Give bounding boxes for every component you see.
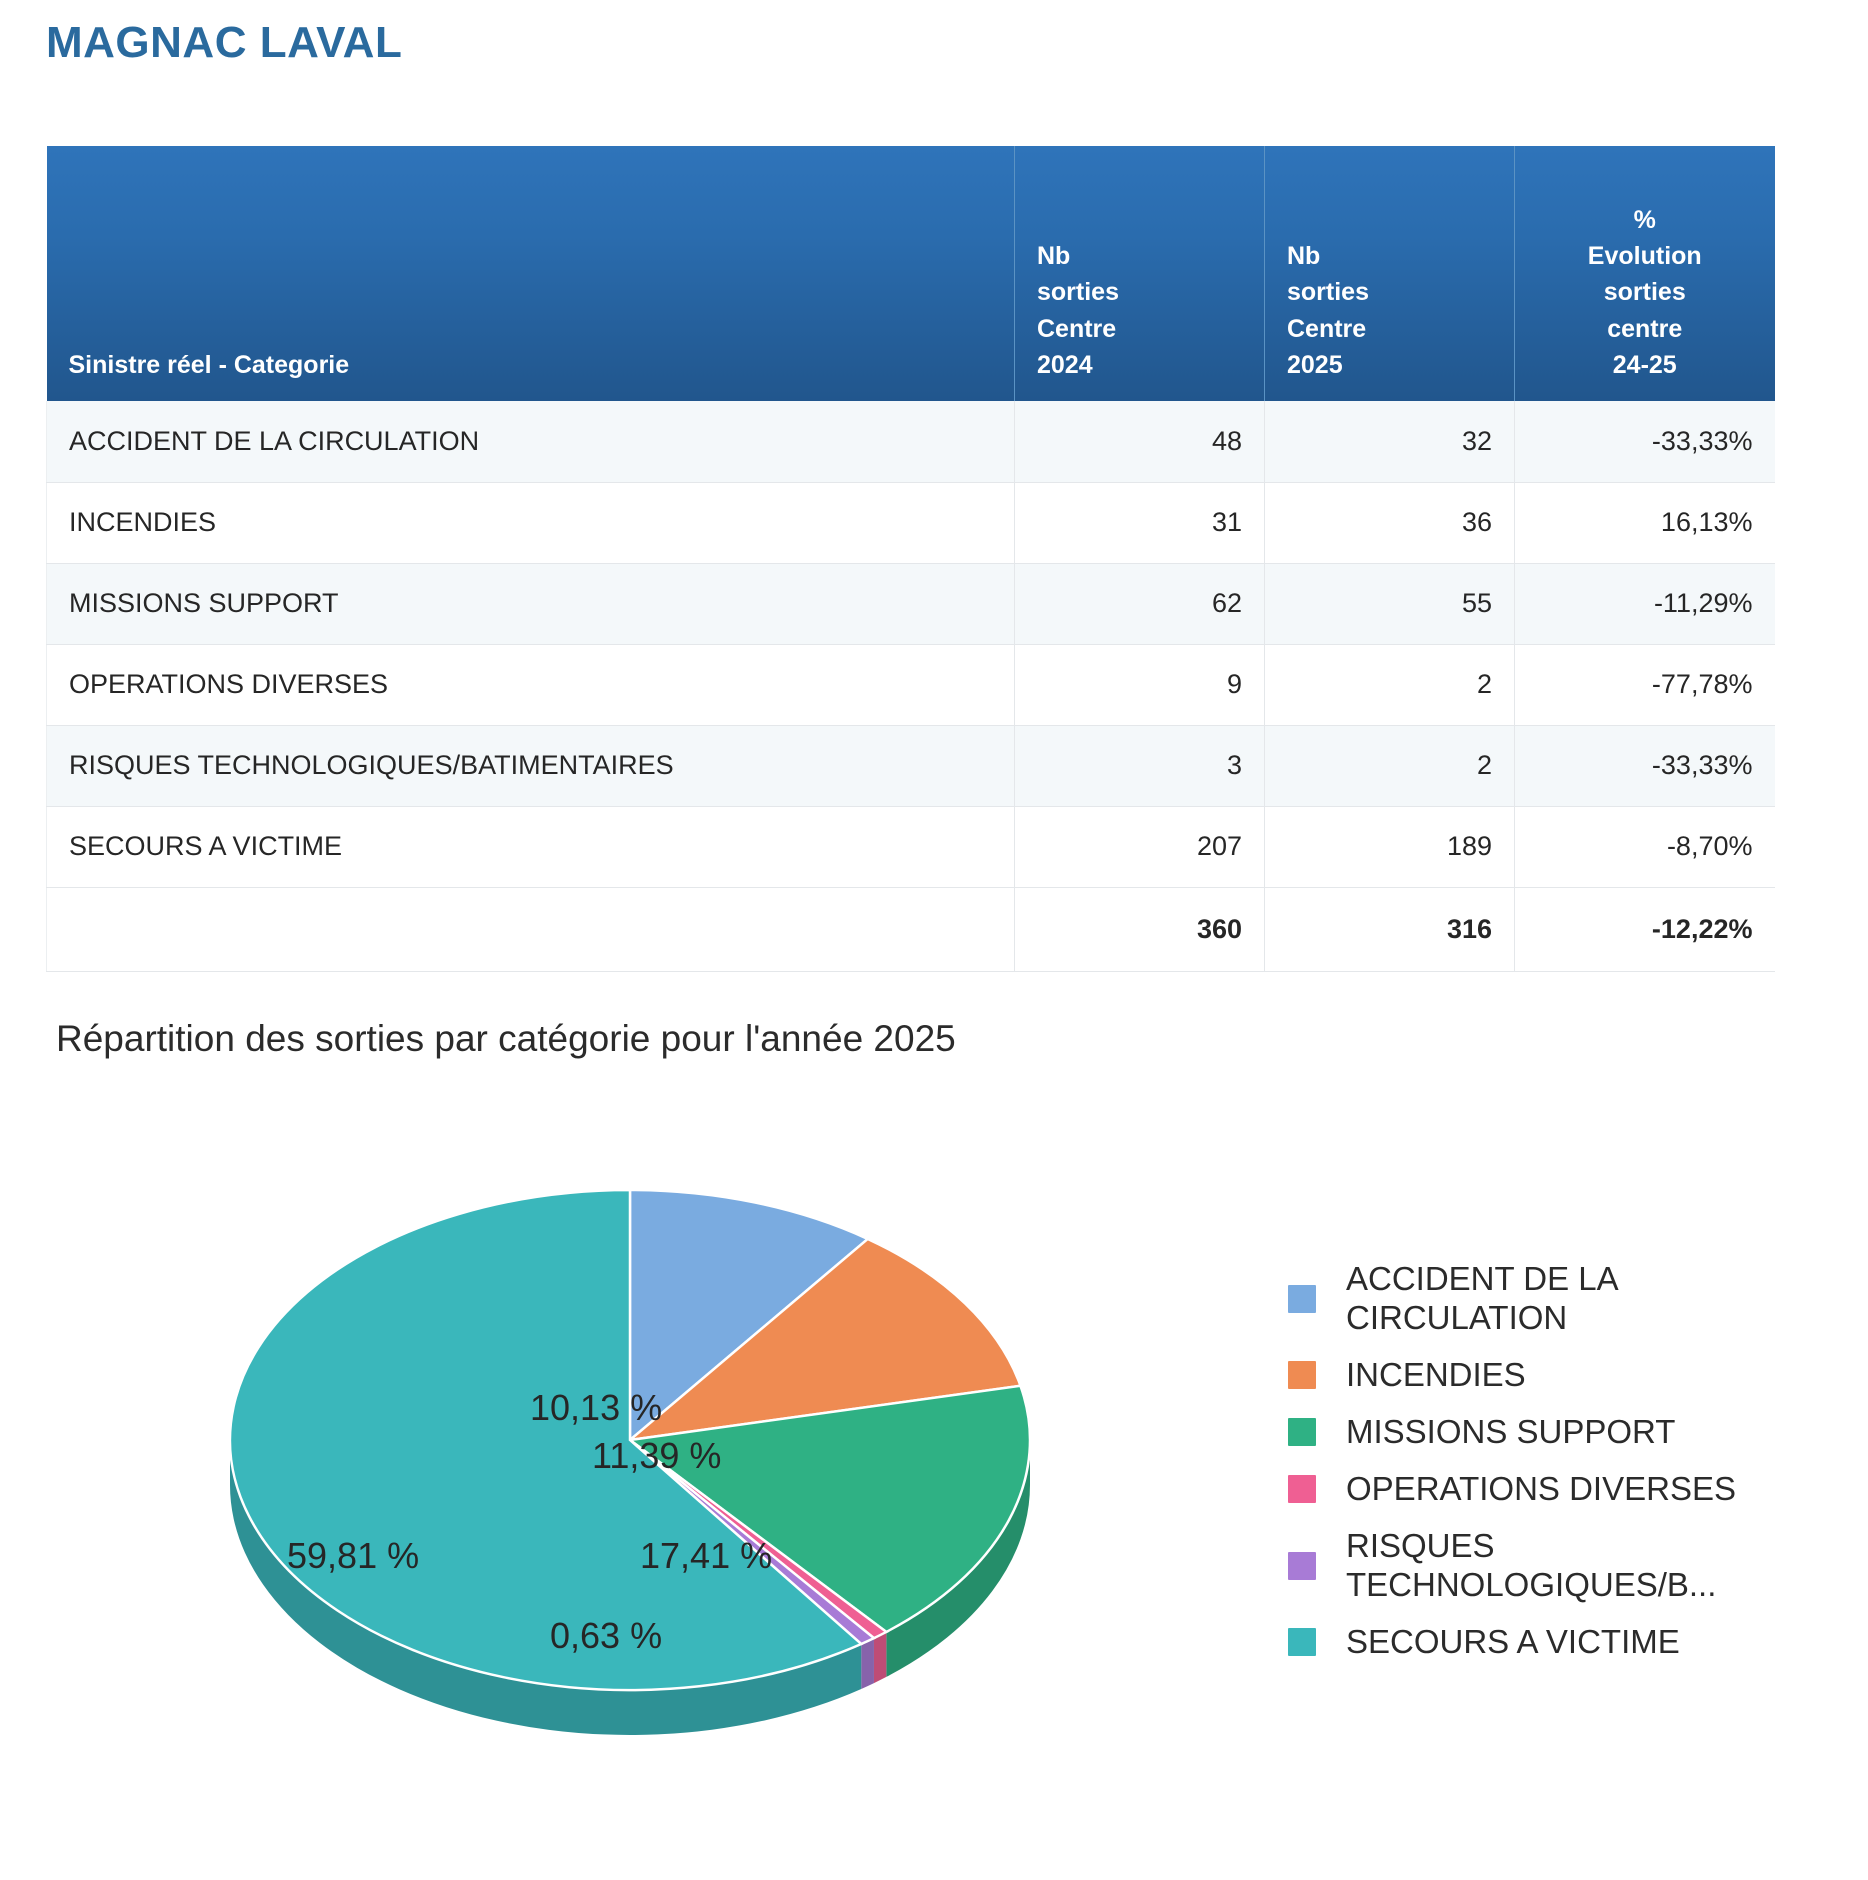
page-title: MAGNAC LAVAL [46, 18, 402, 68]
cell-evolution: -77,78% [1515, 644, 1775, 725]
table-row[interactable]: OPERATIONS DIVERSES 9 2 -77,78% [47, 644, 1775, 725]
legend-item-risques[interactable]: RISQUES TECHNOLOGIQUES/B... [1288, 1527, 1828, 1605]
table-row[interactable]: SECOURS A VICTIME 207 189 -8,70% [47, 806, 1775, 887]
table-row[interactable]: MISSIONS SUPPORT 62 55 -11,29% [47, 563, 1775, 644]
header-line: Nb [1037, 238, 1242, 274]
cell-evolution: -33,33% [1515, 401, 1775, 482]
cell-evolution: -11,29% [1515, 563, 1775, 644]
cell-n2025: 55 [1265, 563, 1515, 644]
cell-n2024: 31 [1015, 482, 1265, 563]
stats-table: Sinistre réel - Categorie Nb sorties Cen… [46, 146, 1775, 972]
legend-swatch-icon [1288, 1475, 1316, 1503]
cell-category: RISQUES TECHNOLOGIQUES/BATIMENTAIRES [47, 725, 1015, 806]
cell-total-n2025: 316 [1265, 887, 1515, 971]
column-header-n2024[interactable]: Nb sorties Centre 2024 [1015, 146, 1265, 401]
table-row[interactable]: RISQUES TECHNOLOGIQUES/BATIMENTAIRES 3 2… [47, 725, 1775, 806]
legend-label: SECOURS A VICTIME [1346, 1623, 1680, 1662]
legend-swatch-icon [1288, 1418, 1316, 1446]
cell-n2025: 189 [1265, 806, 1515, 887]
cell-total-evolution: -12,22% [1515, 887, 1775, 971]
header-line: Centre [1287, 311, 1492, 347]
cell-n2024: 48 [1015, 401, 1265, 482]
chart-legend: ACCIDENT DE LA CIRCULATION INCENDIES MIS… [1288, 1260, 1828, 1680]
cell-n2024: 9 [1015, 644, 1265, 725]
pie-chart-area: 10,13 % 11,39 % 17,41 % 0,63 % 59,81 % A… [0, 1150, 1868, 1870]
legend-item-operations[interactable]: OPERATIONS DIVERSES [1288, 1470, 1828, 1509]
cell-category: ACCIDENT DE LA CIRCULATION [47, 401, 1015, 482]
column-header-category[interactable]: Sinistre réel - Categorie [47, 146, 1015, 401]
table-header-row: Sinistre réel - Categorie Nb sorties Cen… [47, 146, 1775, 401]
table-header: Sinistre réel - Categorie Nb sorties Cen… [47, 146, 1775, 401]
legend-item-secours[interactable]: SECOURS A VICTIME [1288, 1623, 1828, 1662]
table-row[interactable]: INCENDIES 31 36 16,13% [47, 482, 1775, 563]
cell-category: INCENDIES [47, 482, 1015, 563]
column-header-evolution[interactable]: % Evolution sorties centre 24-25 [1515, 146, 1775, 401]
cell-n2025: 2 [1265, 725, 1515, 806]
cell-evolution: 16,13% [1515, 482, 1775, 563]
cell-category: MISSIONS SUPPORT [47, 563, 1015, 644]
column-header-n2025[interactable]: Nb sorties Centre 2025 [1265, 146, 1515, 401]
header-line: Centre [1037, 311, 1242, 347]
table-row[interactable]: ACCIDENT DE LA CIRCULATION 48 32 -33,33% [47, 401, 1775, 482]
legend-label: RISQUES TECHNOLOGIQUES/B... [1346, 1527, 1828, 1605]
cell-n2025: 32 [1265, 401, 1515, 482]
header-line: centre [1537, 311, 1753, 347]
legend-label: INCENDIES [1346, 1356, 1526, 1395]
header-line: % [1537, 202, 1753, 238]
header-line: 2024 [1037, 347, 1242, 383]
cell-category: OPERATIONS DIVERSES [47, 644, 1015, 725]
cell-evolution: -33,33% [1515, 725, 1775, 806]
cell-total-label [47, 887, 1015, 971]
legend-swatch-icon [1288, 1628, 1316, 1656]
legend-swatch-icon [1288, 1361, 1316, 1389]
cell-n2024: 207 [1015, 806, 1265, 887]
legend-label: ACCIDENT DE LA CIRCULATION [1346, 1260, 1828, 1338]
pie-slice-side [874, 1632, 886, 1683]
table-total-row: 360 316 -12,22% [47, 887, 1775, 971]
cell-n2024: 3 [1015, 725, 1265, 806]
legend-item-accident[interactable]: ACCIDENT DE LA CIRCULATION [1288, 1260, 1828, 1338]
header-line: sorties [1287, 274, 1492, 310]
header-line: sorties [1037, 274, 1242, 310]
stats-table-container: Sinistre réel - Categorie Nb sorties Cen… [46, 146, 1774, 972]
header-line: 2025 [1287, 347, 1492, 383]
legend-label: OPERATIONS DIVERSES [1346, 1470, 1736, 1509]
legend-swatch-icon [1288, 1285, 1316, 1313]
header-line: Sinistre réel - Categorie [69, 347, 993, 383]
header-line: Nb [1287, 238, 1492, 274]
header-line: Evolution [1537, 238, 1753, 274]
cell-evolution: -8,70% [1515, 806, 1775, 887]
header-line: sorties [1537, 274, 1753, 310]
legend-item-missions[interactable]: MISSIONS SUPPORT [1288, 1413, 1828, 1452]
cell-total-n2024: 360 [1015, 887, 1265, 971]
pie-slice-side [861, 1638, 874, 1689]
table-body: ACCIDENT DE LA CIRCULATION 48 32 -33,33%… [47, 401, 1775, 971]
pie-chart[interactable]: 10,13 % 11,39 % 17,41 % 0,63 % 59,81 % [230, 1190, 1050, 1750]
legend-item-incendies[interactable]: INCENDIES [1288, 1356, 1828, 1395]
report-page: MAGNAC LAVAL Sinistre réel - Categorie N… [0, 0, 1868, 1880]
cell-n2025: 36 [1265, 482, 1515, 563]
chart-title: Répartition des sorties par catégorie po… [56, 1018, 956, 1060]
legend-swatch-icon [1288, 1552, 1316, 1580]
pie-chart-svg[interactable] [230, 1190, 1050, 1750]
cell-category: SECOURS A VICTIME [47, 806, 1015, 887]
legend-label: MISSIONS SUPPORT [1346, 1413, 1675, 1452]
header-line: 24-25 [1537, 347, 1753, 383]
cell-n2024: 62 [1015, 563, 1265, 644]
cell-n2025: 2 [1265, 644, 1515, 725]
